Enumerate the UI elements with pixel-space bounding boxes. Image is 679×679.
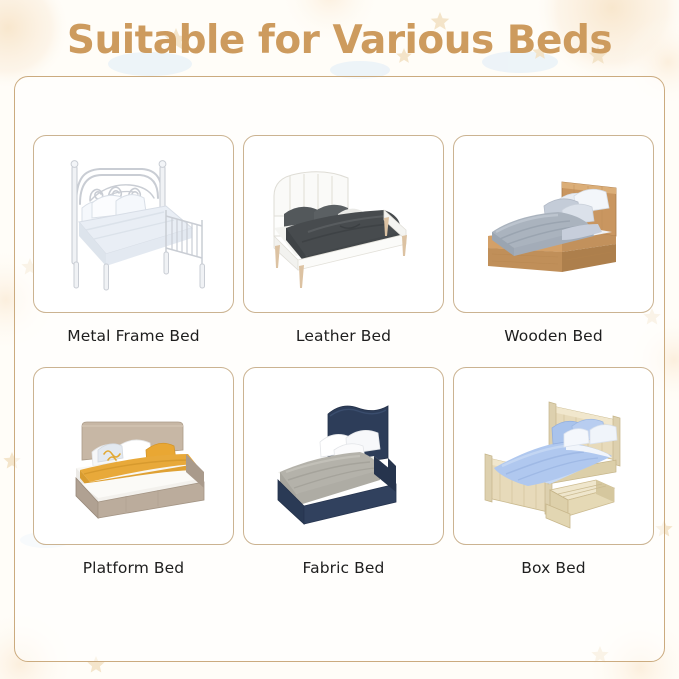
bed-image-frame [453, 367, 654, 545]
bed-card-wooden[interactable]: Wooden Bed [453, 135, 654, 345]
wooden-bed-illustration [466, 144, 641, 304]
bed-image-frame [33, 135, 234, 313]
bed-card-platform[interactable]: Platform Bed [33, 367, 234, 577]
bed-image-frame [243, 367, 444, 545]
bed-image-frame [243, 135, 444, 313]
fabric-bed-illustration [256, 376, 431, 536]
platform-bed-illustration [46, 376, 221, 536]
bed-image-frame [33, 367, 234, 545]
bed-card-metal-frame[interactable]: Metal Frame Bed [33, 135, 234, 345]
bed-label: Box Bed [521, 559, 585, 577]
bed-type-grid: Metal Frame Bed [33, 135, 654, 577]
bed-label: Platform Bed [83, 559, 185, 577]
box-bed-illustration [466, 376, 641, 536]
bed-card-fabric[interactable]: Fabric Bed [243, 367, 444, 577]
bed-card-leather[interactable]: Leather Bed [243, 135, 444, 345]
bed-label: Metal Frame Bed [67, 327, 199, 345]
metal-frame-bed-illustration [46, 144, 221, 304]
leather-bed-illustration [256, 144, 431, 304]
bed-image-frame [453, 135, 654, 313]
bed-label: Fabric Bed [303, 559, 385, 577]
page-title: Suitable for Various Beds [0, 18, 679, 63]
bed-label: Wooden Bed [504, 327, 603, 345]
bed-label: Leather Bed [296, 327, 391, 345]
bed-card-box[interactable]: Box Bed [453, 367, 654, 577]
